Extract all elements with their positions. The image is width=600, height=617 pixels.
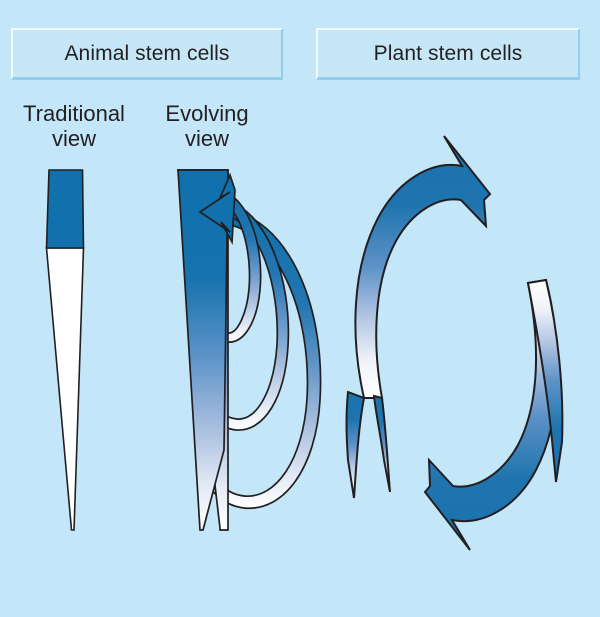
traditional-view-cone — [0, 150, 160, 550]
panel-title-animal: Animal stem cells — [64, 42, 229, 66]
panel-header-animal-stem-cells: Animal stem cells — [11, 28, 283, 80]
stem-cell-block — [47, 170, 84, 248]
label-evolving-view-line2: view — [148, 126, 266, 151]
label-traditional-view-line1: Traditional — [8, 101, 140, 126]
evolving-view-cone — [160, 150, 340, 550]
label-traditional-view: Traditional view — [8, 101, 140, 151]
label-evolving-view-line1: Evolving — [148, 101, 266, 126]
plant-arrow-upper-left-tail-inner — [374, 396, 390, 492]
label-evolving-view: Evolving view — [148, 101, 266, 151]
plant-cyclic-arrows — [330, 130, 580, 550]
differentiation-cone-body — [47, 248, 84, 530]
plant-arrow-upper-left-tail — [347, 392, 365, 498]
figure-canvas: Animal stem cells Plant stem cells Tradi… — [0, 0, 600, 617]
panel-header-plant-stem-cells: Plant stem cells — [316, 28, 580, 80]
plant-arrow-upper-left — [355, 136, 490, 398]
panel-title-plant: Plant stem cells — [374, 42, 523, 66]
label-traditional-view-line2: view — [8, 126, 140, 151]
